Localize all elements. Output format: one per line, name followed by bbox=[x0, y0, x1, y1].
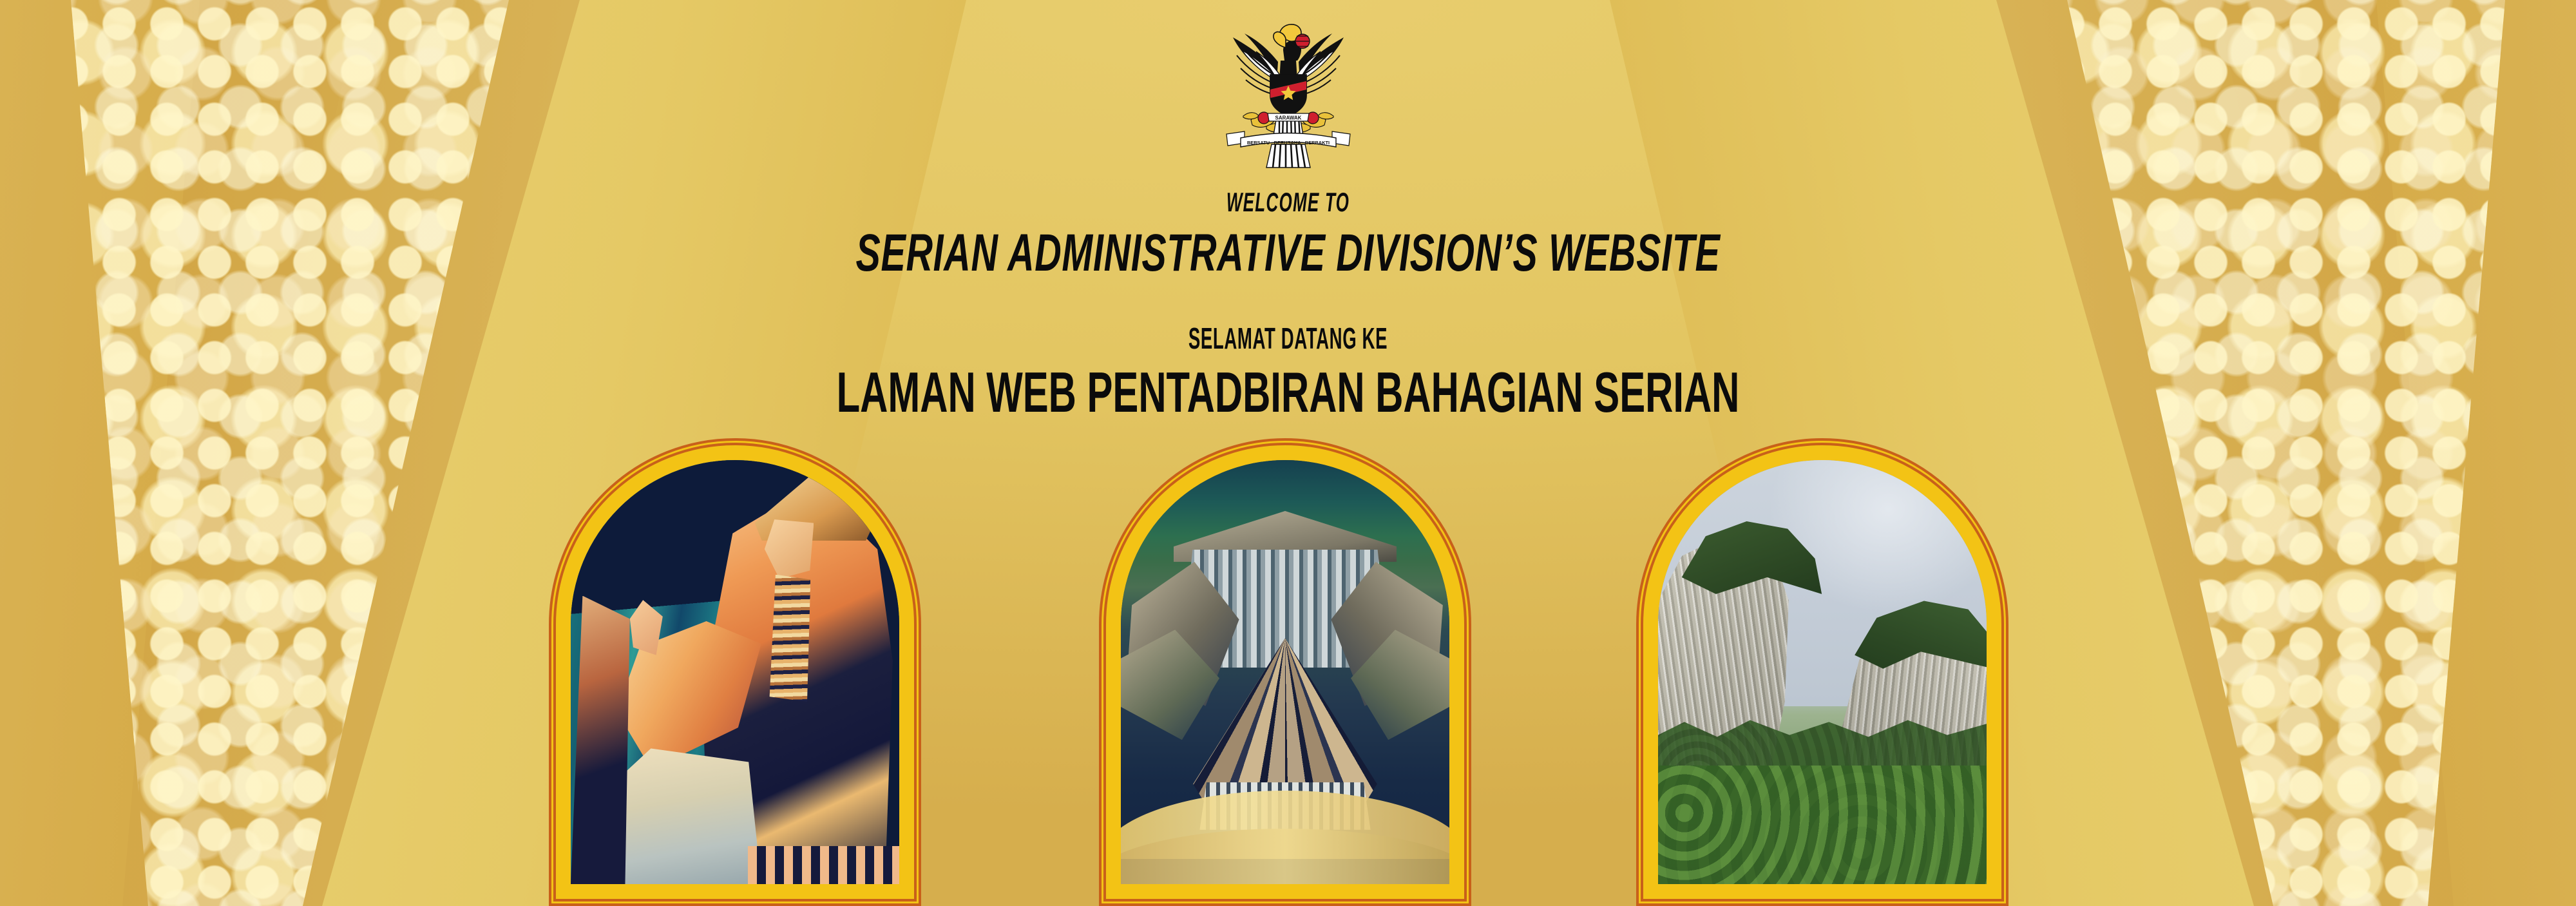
crest-ribbon-motto: BERSATU · BERUSAHA · BERBAKTI bbox=[1246, 140, 1329, 146]
karst-hills-image bbox=[1658, 460, 1987, 884]
arch-image-mask bbox=[1658, 460, 1987, 884]
admin-centre-image bbox=[1121, 460, 1449, 884]
arch-photo-admin-centre[interactable] bbox=[1099, 438, 1471, 906]
welcome-label-my: SELAMAT DATANG KE bbox=[515, 321, 2061, 356]
arch-image-mask bbox=[1121, 460, 1449, 884]
welcome-banner: SARAWAK BERSATU · BERUSAHA · BERBAKTI WE… bbox=[0, 0, 2576, 906]
crest-shield-motto: SARAWAK bbox=[1275, 115, 1301, 121]
banner-headings: WELCOME TO SERIAN ADMINISTRATIVE DIVISIO… bbox=[0, 187, 2576, 425]
dancers-image bbox=[571, 460, 899, 884]
page-title-en: SERIAN ADMINISTRATIVE DIVISION’S WEBSITE bbox=[386, 223, 2190, 284]
arch-photo-dancers[interactable] bbox=[549, 438, 921, 906]
sarawak-coat-of-arms-icon: SARAWAK BERSATU · BERUSAHA · BERBAKTI bbox=[1205, 5, 1372, 173]
page-title-my: LAMAN WEB PENTADBIRAN BAHAGIAN SERIAN bbox=[412, 360, 2164, 425]
welcome-label-en: WELCOME TO bbox=[490, 187, 2086, 218]
arch-photo-karst-hills[interactable] bbox=[1636, 438, 2008, 906]
arch-image-mask bbox=[571, 460, 899, 884]
